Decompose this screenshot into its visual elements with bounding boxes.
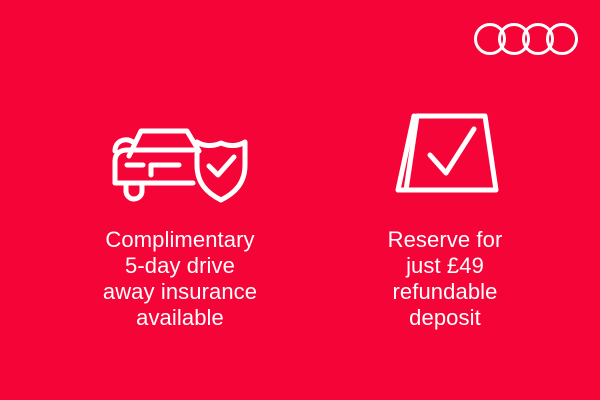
feature-label-insurance: Complimentary 5-day drive away insurance… xyxy=(103,227,257,331)
feature-item-deposit: Reserve for just £49 refundable deposit xyxy=(325,0,565,331)
promo-banner: Complimentary 5-day drive away insurance… xyxy=(0,0,600,400)
feature-item-insurance: Complimentary 5-day drive away insurance… xyxy=(35,0,325,331)
car-shield-insurance-icon xyxy=(107,103,253,203)
tent-card-checkmark-icon xyxy=(390,103,500,203)
feature-list: Complimentary 5-day drive away insurance… xyxy=(0,0,600,400)
feature-label-deposit: Reserve for just £49 refundable deposit xyxy=(388,227,503,331)
